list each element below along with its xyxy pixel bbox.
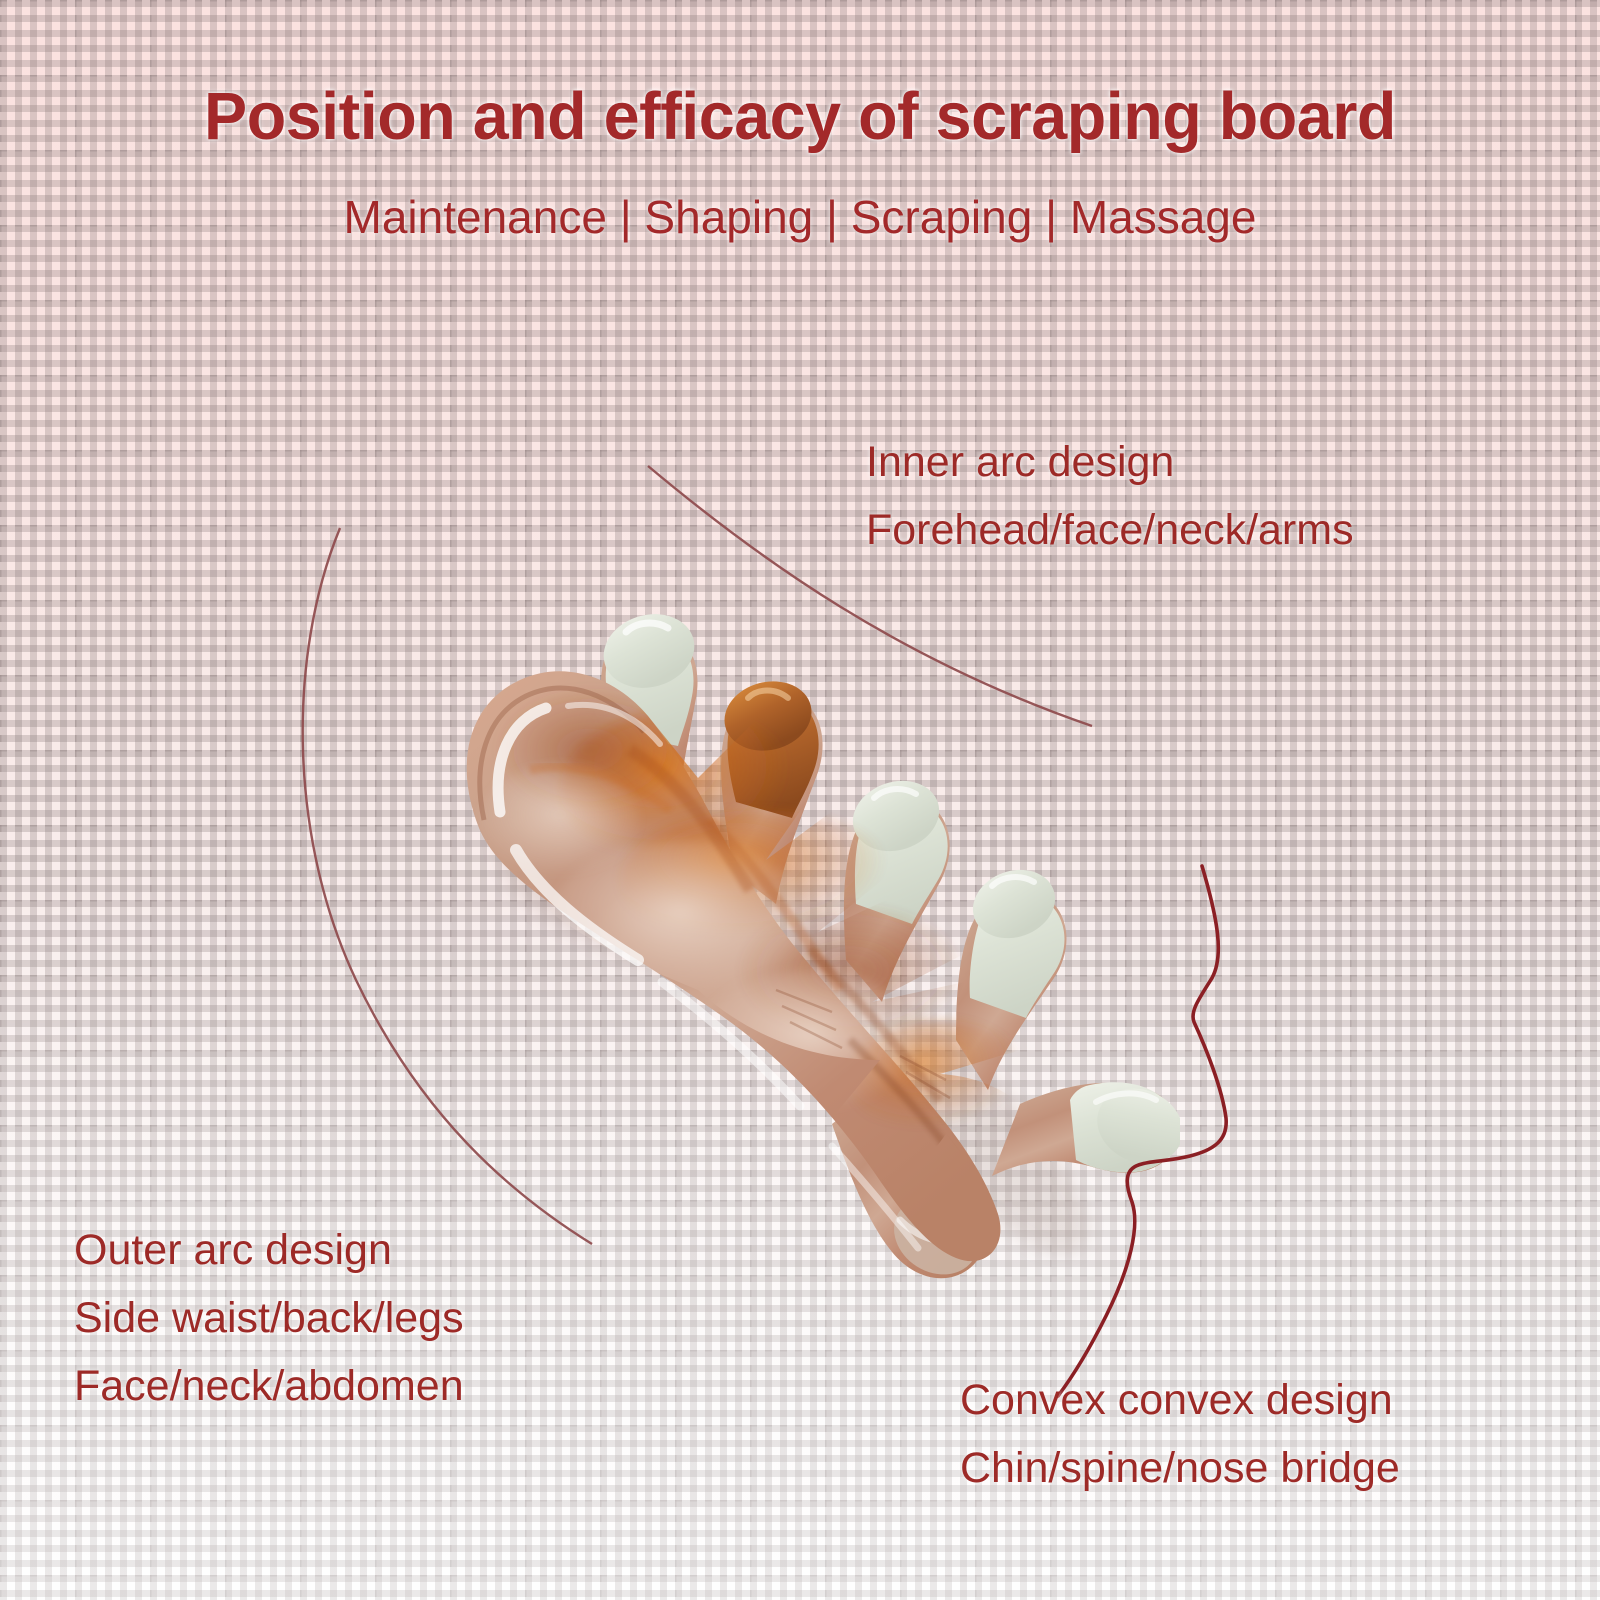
callout-inner-arc-heading: Inner arc design bbox=[866, 428, 1354, 496]
callout-convex: Convex convex design Chin/spine/nose bri… bbox=[960, 1366, 1400, 1502]
callout-inner-arc-detail: Forehead/face/neck/arms bbox=[866, 496, 1354, 564]
page-subtitle: Maintenance | Shaping | Scraping | Massa… bbox=[0, 190, 1600, 244]
product-image bbox=[380, 520, 1180, 1310]
callout-convex-detail: Chin/spine/nose bridge bbox=[960, 1434, 1400, 1502]
callout-convex-heading: Convex convex design bbox=[960, 1366, 1400, 1434]
callout-outer-arc-detail-1: Side waist/back/legs bbox=[74, 1284, 464, 1352]
infographic-page: Position and efficacy of scraping board … bbox=[0, 0, 1600, 1600]
page-title: Position and efficacy of scraping board bbox=[28, 78, 1572, 155]
callout-outer-arc-detail-2: Face/neck/abdomen bbox=[74, 1352, 464, 1420]
callout-inner-arc: Inner arc design Forehead/face/neck/arms bbox=[866, 428, 1354, 564]
callout-outer-arc: Outer arc design Side waist/back/legs Fa… bbox=[74, 1216, 464, 1420]
callout-outer-arc-heading: Outer arc design bbox=[74, 1216, 464, 1284]
